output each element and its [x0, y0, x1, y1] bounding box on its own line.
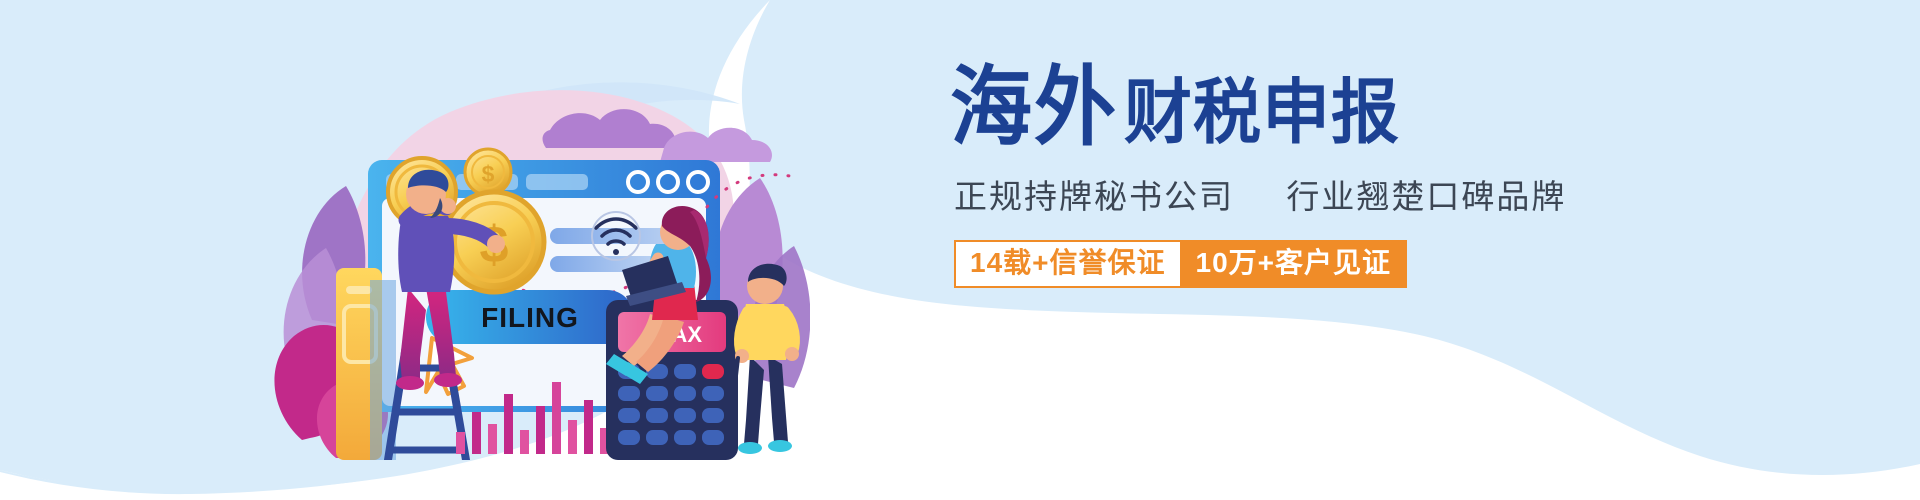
filing-button[interactable]: FILING [426, 290, 634, 344]
coin-symbol: $ [482, 161, 495, 187]
banner-copy: 海外 财税申报 正规持牌秘书公司 行业翘楚口碑品牌 14载+信誉保证 10万+客… [950, 70, 1570, 288]
subtitle-left: 正规持牌秘书公司 [954, 178, 1234, 215]
subtitle: 正规持牌秘书公司 行业翘楚口碑品牌 [954, 170, 1570, 218]
badge-clients: 10万+客户见证 [1180, 240, 1408, 288]
document-folder-stack [336, 268, 396, 460]
headline: 海外 财税申报 [950, 70, 1570, 152]
headline-primary: 海外 [950, 65, 1118, 152]
badge-group: 14载+信誉保证 10万+客户见证 [954, 240, 1570, 288]
illustration-svg: FILING $ $ $ [250, 20, 810, 460]
subtitle-right: 行业翘楚口碑品牌 [1286, 178, 1566, 215]
promo-banner: FILING $ $ $ [0, 0, 1920, 500]
overseas-tax-filing-illustration: FILING $ $ $ [250, 20, 810, 460]
badge-experience: 14载+信誉保证 [954, 240, 1180, 288]
headline-secondary: 财税申报 [1124, 77, 1400, 152]
filing-button-label: FILING [481, 302, 579, 333]
coin-small: $ [465, 149, 511, 195]
